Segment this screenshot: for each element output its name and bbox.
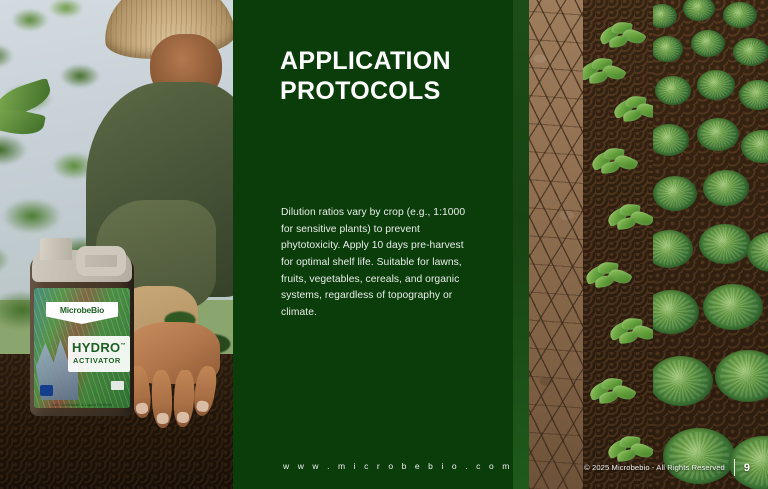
page-number: 9	[744, 462, 750, 474]
label-product-name-text: HYDRO	[72, 340, 120, 355]
website-url[interactable]: w w w . m i c r o b e b i o . c o m	[283, 461, 512, 471]
body-paragraph: Dilution ratios vary by crop (e.g., 1:10…	[281, 205, 477, 322]
product-bottle: MicrobeBio HYDRO™ ACTIVATOR Soil Conditi…	[28, 238, 136, 416]
seedling-plant	[599, 22, 645, 52]
hand-finger	[151, 370, 173, 429]
trademark-icon: ™	[120, 343, 125, 349]
cabbage-plant	[653, 176, 697, 211]
cabbage-plant	[653, 290, 699, 334]
label-product-name: HYDRO™	[72, 340, 126, 355]
footer-right: © 2025 Microbebio - All Rights Reserved …	[584, 459, 750, 476]
cabbage-plant	[653, 124, 689, 156]
cabbage-plant	[653, 230, 693, 268]
seedling-plant	[585, 262, 631, 292]
seedling-plant	[589, 378, 635, 408]
cabbage-plant	[699, 224, 751, 264]
cabbage-plant	[697, 70, 735, 100]
cabbage-plant	[655, 76, 691, 105]
image-strip-seedlings	[583, 0, 653, 489]
page-title-line-1: APPLICATION	[280, 46, 495, 76]
cabbage-plant	[723, 2, 757, 28]
cabbage-plant	[683, 0, 715, 21]
seedling-plant	[613, 96, 653, 126]
cabbage-plant	[703, 284, 763, 330]
cabbage-plant	[741, 130, 768, 163]
cabbage-plant	[653, 36, 683, 62]
label-product-subtitle: ACTIVATOR	[73, 356, 121, 365]
cabbage-plant	[653, 356, 713, 406]
cabbage-plant	[697, 118, 739, 151]
seedling-plant	[591, 148, 637, 178]
slide-canvas: MicrobeBio HYDRO™ ACTIVATOR Soil Conditi…	[0, 0, 768, 489]
image-strip-cabbage-field	[653, 0, 768, 489]
cabbage-plant	[691, 30, 725, 57]
cabbage-plant	[739, 80, 768, 110]
cabbage-plant	[653, 4, 677, 28]
seedling-plant	[583, 58, 625, 88]
bottle-cap	[40, 238, 72, 260]
left-photo-farmer: MicrobeBio HYDRO™ ACTIVATOR Soil Conditi…	[0, 0, 233, 489]
fingernail	[177, 412, 190, 424]
page-title: APPLICATION PROTOCOLS	[280, 46, 495, 106]
seedling-plant	[607, 204, 653, 234]
cabbage-plant	[733, 38, 768, 66]
cabbage-plant	[703, 170, 749, 206]
image-strip-dry-soil	[529, 0, 583, 489]
label-barcode-icon	[111, 381, 124, 390]
bottle-handle	[76, 246, 126, 276]
fingernail	[196, 400, 210, 413]
hand-finger	[173, 370, 196, 428]
page-title-line-2: PROTOCOLS	[280, 76, 495, 106]
cabbage-plant	[715, 350, 768, 402]
fingernail	[135, 402, 148, 414]
seedling-plant	[609, 318, 653, 348]
label-footnote: Soil Conditioner & Liquid Fertilizer	[34, 403, 130, 407]
label-badge-icon	[40, 385, 53, 396]
soil-crack-texture	[529, 0, 583, 489]
bottle-label: MicrobeBio HYDRO™ ACTIVATOR Soil Conditi…	[34, 288, 130, 408]
footer-divider	[734, 459, 735, 476]
copyright-text: © 2025 Microbebio - All Rights Reserved	[584, 463, 725, 472]
green-divider-bar	[513, 0, 529, 489]
content-panel: APPLICATION PROTOCOLS Dilution ratios va…	[233, 0, 513, 489]
label-brand-text: MicrobeBio	[60, 305, 104, 315]
fingernail	[156, 413, 168, 424]
